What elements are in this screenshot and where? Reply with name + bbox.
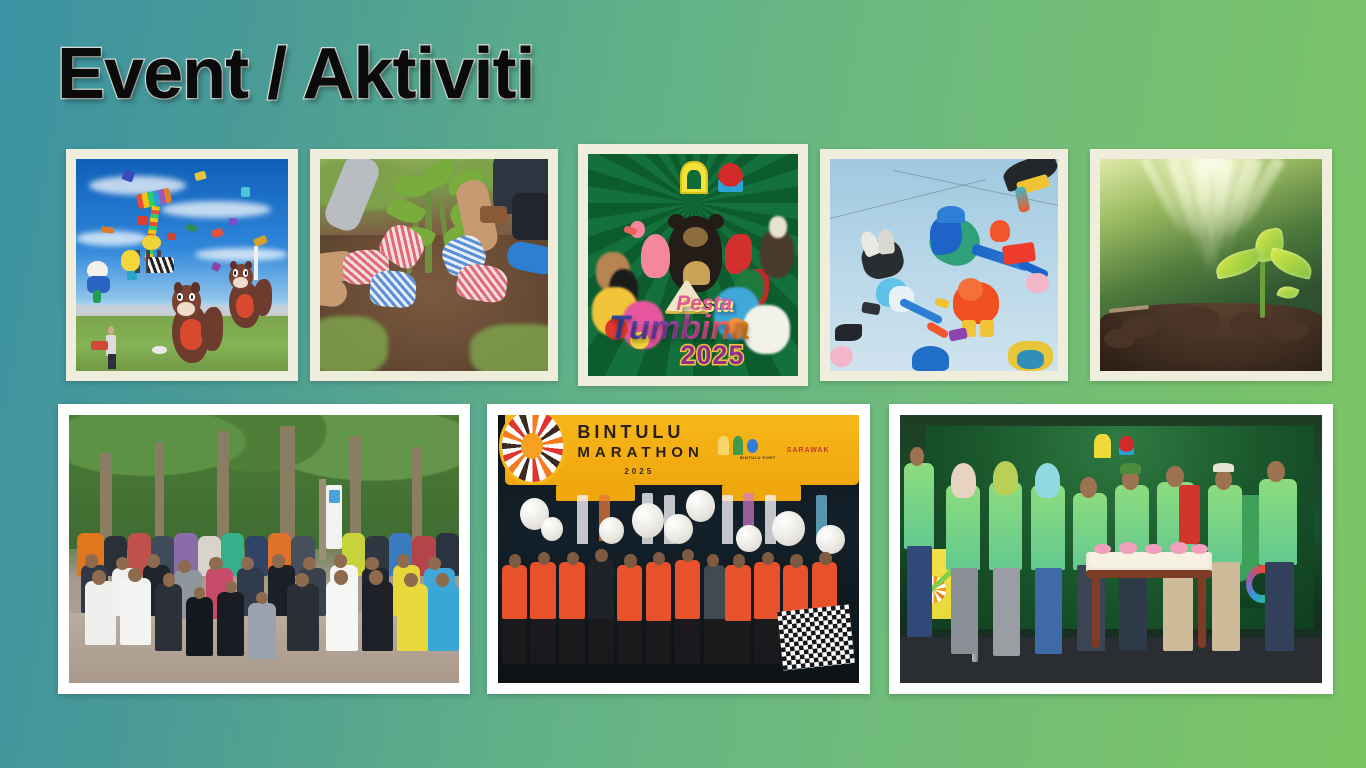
- gallery-card-bintulu-marathon[interactable]: BINTULU MARATHON 2025 BINTULU PORT SARAW…: [487, 404, 870, 694]
- council-logo-icon: [680, 161, 707, 194]
- marathon-banner-line1: BINTULU: [577, 422, 684, 443]
- gallery-card-park-group-photo[interactable]: [58, 404, 470, 694]
- seedling-photo: [1100, 159, 1322, 371]
- poster-year: 2025: [680, 340, 744, 371]
- gallery-card-seedling[interactable]: [1090, 149, 1332, 381]
- bintulu-marathon-photo: BINTULU MARATHON 2025 BINTULU PORT SARAW…: [498, 415, 859, 683]
- tree-planting-photo: [320, 159, 548, 371]
- gallery-card-tree-planting[interactable]: [310, 149, 558, 381]
- marathon-sponsor-sarawak: SARAWAK: [787, 447, 830, 454]
- smiley-kite: [142, 235, 161, 250]
- department-logo-icon: [718, 163, 743, 192]
- kite-festival-photo: [76, 159, 288, 371]
- department-logo-icon: [1119, 436, 1133, 455]
- child-front: [186, 597, 213, 656]
- gallery-card-kite-festival[interactable]: [66, 149, 298, 381]
- squirrel-kite: [161, 282, 225, 367]
- sprout-stem: [1260, 259, 1266, 318]
- page-title: Event / Aktiviti: [57, 37, 534, 113]
- pesta-tumbina-poster-photo: Pesta Tumbina 2025: [588, 154, 798, 376]
- cake-cutting-photo: [900, 415, 1322, 683]
- gallery-card-pesta-tumbina-poster[interactable]: Pesta Tumbina 2025: [578, 144, 808, 386]
- flamingo-illustration: [641, 234, 670, 278]
- marathon-banner-line2: MARATHON: [577, 444, 703, 461]
- checkered-flag: [777, 604, 855, 670]
- sky-kites-photo: [830, 159, 1058, 371]
- marathon-sponsor-bintulu-port: BINTULU PORT: [740, 455, 776, 460]
- gallery-card-cake-cutting[interactable]: [889, 404, 1333, 694]
- gallery-card-sky-kites[interactable]: [820, 149, 1068, 381]
- council-logo-icon: [1094, 434, 1111, 458]
- marathon-banner-year: 2025: [624, 467, 654, 476]
- parrot-illustration: [725, 234, 752, 274]
- park-group-photo-photo: [69, 415, 459, 683]
